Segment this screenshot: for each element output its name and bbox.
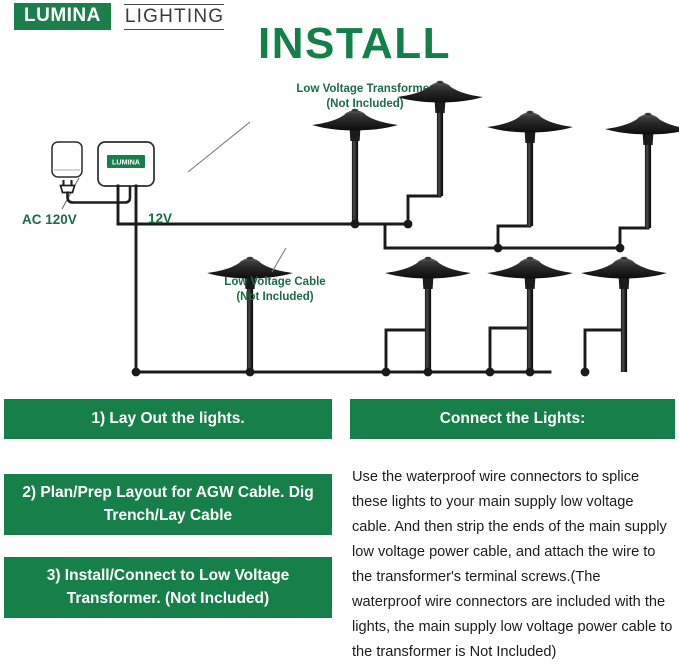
transformer-caption-leader-line bbox=[188, 122, 250, 172]
path-light bbox=[487, 257, 573, 372]
label-ac-120v: AC 120V bbox=[22, 212, 77, 227]
instructions-section: 1) Lay Out the lights. 2) Plan/Prep Layo… bbox=[0, 399, 679, 653]
label-low-voltage-cable-line1: Low Voltage Cable bbox=[190, 275, 360, 290]
steps-gap-1 bbox=[4, 439, 332, 474]
connect-paragraph: Use the waterproof wire connectors to sp… bbox=[350, 439, 675, 665]
path-light bbox=[397, 81, 483, 196]
steps-gap-2 bbox=[4, 535, 332, 557]
ac-outlet bbox=[52, 142, 82, 177]
connect-heading-banner: Connect the Lights: bbox=[350, 399, 675, 439]
path-light bbox=[581, 257, 667, 372]
label-low-voltage-cable: Low Voltage Cable (Not Included) bbox=[190, 275, 360, 305]
transformer-box: LUMINA bbox=[98, 142, 154, 186]
path-light bbox=[385, 257, 471, 372]
path-light bbox=[487, 111, 573, 226]
transformer-badge-label: LUMINA bbox=[112, 158, 140, 167]
step-2-banner: 2) Plan/Prep Layout for AGW Cable. Dig T… bbox=[4, 474, 332, 535]
connect-column: Connect the Lights: Use the waterproof w… bbox=[350, 399, 675, 665]
label-12v: 12V bbox=[148, 211, 172, 226]
path-light bbox=[605, 113, 679, 228]
steps-column: 1) Lay Out the lights. 2) Plan/Prep Layo… bbox=[4, 399, 332, 618]
path-light bbox=[312, 109, 398, 224]
wiring-diagram: LUMINA bbox=[0, 0, 679, 396]
cable-label-leader-line bbox=[272, 248, 286, 272]
step-3-banner: 3) Install/Connect to Low Voltage Transf… bbox=[4, 557, 332, 618]
install-infographic: LUMINA LIGHTING INSTALL Low Voltage Tran… bbox=[0, 0, 679, 653]
step-1-banner: 1) Lay Out the lights. bbox=[4, 399, 332, 439]
label-low-voltage-cable-line2: (Not Included) bbox=[190, 290, 360, 305]
